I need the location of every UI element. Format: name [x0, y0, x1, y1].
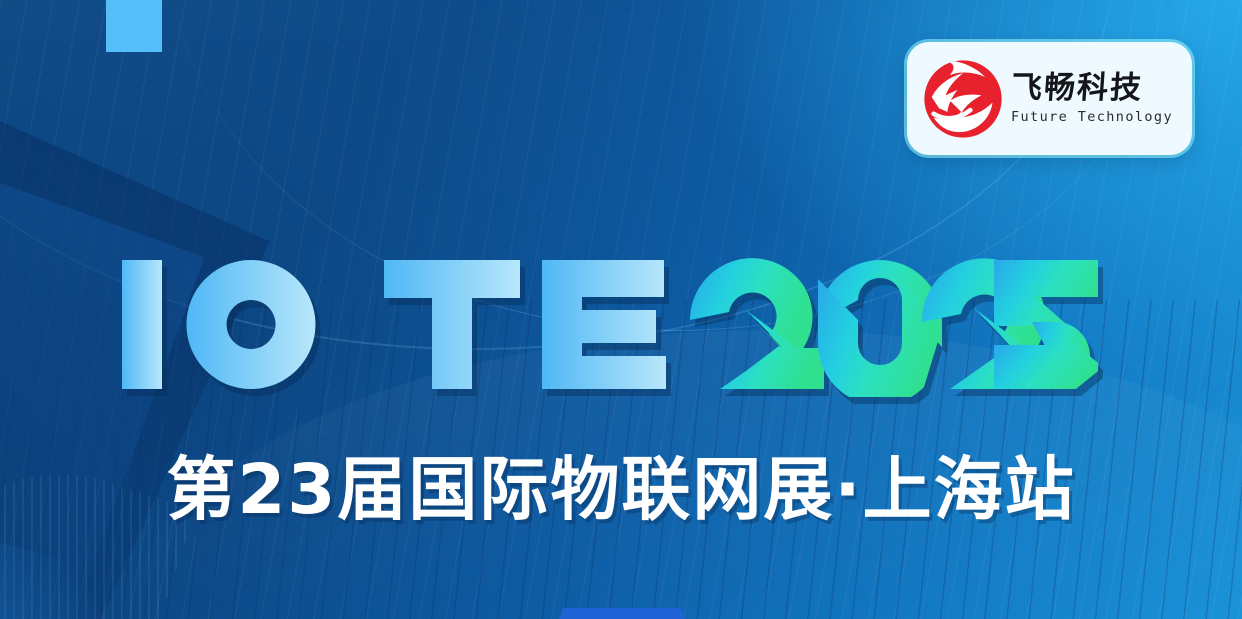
iote-2025-event-banner: 飞畅科技 Future Technology	[0, 0, 1242, 619]
event-subtitle: 第23届国际物联网展·上海站	[0, 452, 1242, 528]
company-logo-text: 飞畅科技 Future Technology	[1011, 72, 1173, 126]
background-corner-glow	[0, 538, 173, 619]
iote-2025-wordmark-svg	[118, 252, 1098, 397]
iote-2025-wordmark	[118, 252, 1098, 397]
company-logo-badge[interactable]: 飞畅科技 Future Technology	[907, 42, 1192, 155]
feichang-bird-circle-logo-icon	[917, 53, 1009, 145]
wordmark-digit-five	[994, 260, 1098, 389]
wordmark-brand-letters	[122, 260, 666, 389]
top-accent-tab	[106, 0, 162, 52]
company-name-en: Future Technology	[1011, 109, 1173, 125]
company-name-cn: 飞畅科技	[1010, 72, 1174, 105]
bottom-accent-tab	[558, 608, 686, 619]
